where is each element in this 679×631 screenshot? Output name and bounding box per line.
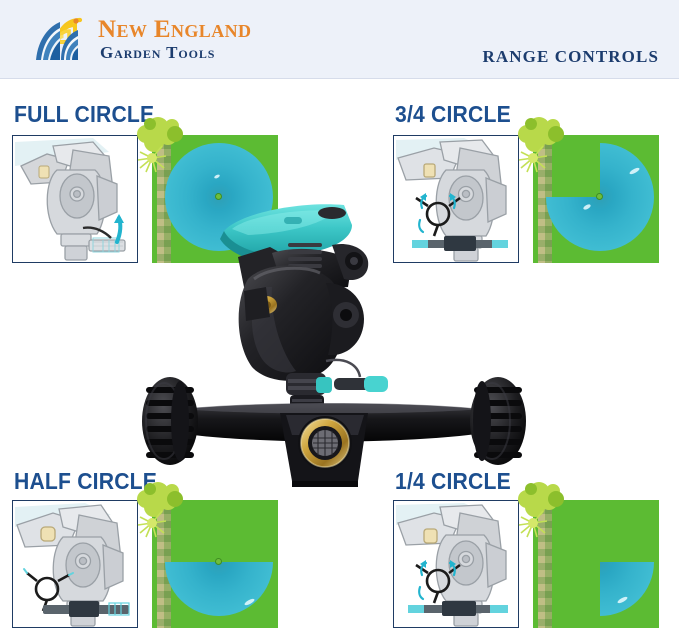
sprinkler-wheel-right xyxy=(470,377,526,465)
sprinkler-sled-base xyxy=(166,403,496,487)
product-image-sprinkler xyxy=(120,195,560,495)
panel-title-three-quarter-circle: 3/4 CIRCLE xyxy=(395,101,511,128)
brand-logo-text: New England Garden Tools xyxy=(98,15,251,62)
brand-name-secondary: Garden Tools xyxy=(98,43,251,63)
page-header: New England Garden Tools RANGE CONTROLS xyxy=(0,0,679,79)
diagram-half-circle xyxy=(12,500,138,628)
sprinkler-wheel-left xyxy=(142,377,198,465)
page-title: RANGE CONTROLS xyxy=(483,47,659,67)
brand-logo[interactable]: New England Garden Tools xyxy=(30,8,251,70)
brand-name-primary: New England xyxy=(98,17,251,43)
shrub-cluster-icon xyxy=(128,112,190,178)
sun-and-waves-logo-icon xyxy=(30,8,92,70)
shrub-cluster-icon xyxy=(509,112,571,178)
sprinkler-hub-marker xyxy=(596,193,603,200)
sprinkler-hub-marker xyxy=(215,558,222,565)
diagram-quarter-circle xyxy=(393,500,519,628)
sprinkler-head-body xyxy=(238,243,368,381)
